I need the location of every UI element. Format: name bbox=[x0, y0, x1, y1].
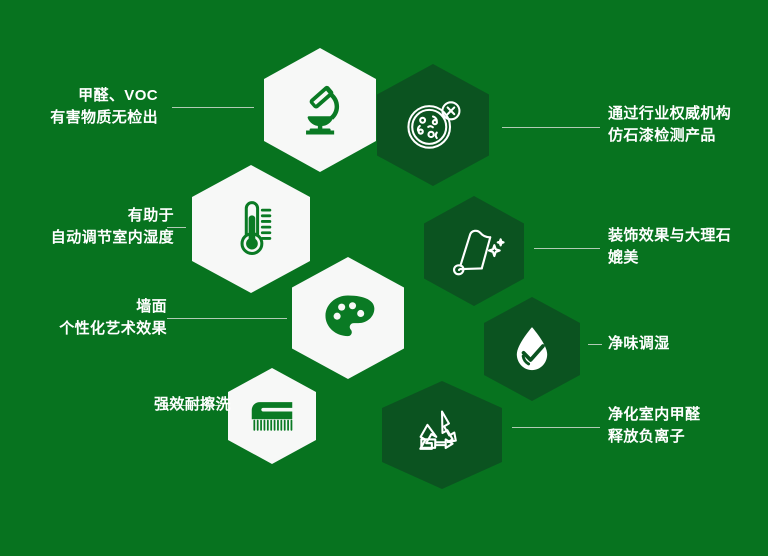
feature-label-line: 甲醛、VOC bbox=[50, 85, 158, 107]
feature-label-line: 个性化艺术效果 bbox=[59, 318, 167, 340]
hex-tile-palette bbox=[292, 257, 404, 379]
feature-label-line: 通过行业权威机构 bbox=[608, 103, 731, 125]
feature-label-line: 净味调湿 bbox=[608, 333, 670, 355]
feature-label-line: 仿石漆检测产品 bbox=[608, 125, 731, 147]
feature-label-humidity-regulation: 有助于 自动调节室内湿度 bbox=[51, 205, 174, 249]
hex-tile-brush bbox=[228, 368, 316, 464]
microscope-icon bbox=[289, 79, 351, 141]
water-drop-check-icon bbox=[505, 322, 559, 376]
connector-line-marble-like-decoration bbox=[534, 248, 600, 249]
thermometer-icon bbox=[220, 196, 282, 262]
hex-tile-thermometer bbox=[192, 165, 310, 293]
feature-label-personalized-wall-art: 墙面 个性化艺术效果 bbox=[59, 296, 167, 340]
infographic-canvas: 甲醛、VOC 有害物质无检出 通过行业权威机构 仿石漆检测产品 有助于 自动调节… bbox=[0, 0, 768, 556]
feature-label-line: 有害物质无检出 bbox=[50, 107, 158, 129]
feature-label-no-formaldehyde-voc: 甲醛、VOC 有害物质无检出 bbox=[50, 85, 158, 129]
feature-label-marble-like-decoration: 装饰效果与大理石 媲美 bbox=[608, 225, 731, 269]
feature-label-purify-formaldehyde-anions: 净化室内甲醛 释放负离子 bbox=[608, 404, 700, 448]
feature-label-line: 媲美 bbox=[608, 247, 731, 269]
palette-icon bbox=[319, 289, 377, 347]
hex-tile-fabric bbox=[424, 196, 524, 306]
recycle-icon bbox=[408, 404, 476, 466]
connector-line-personalized-wall-art bbox=[167, 318, 287, 319]
feature-label-odor-removal-humidity: 净味调湿 bbox=[608, 333, 670, 355]
feature-label-line: 净化室内甲醛 bbox=[608, 404, 700, 426]
feature-label-line: 释放负离子 bbox=[608, 426, 700, 448]
feature-label-line: 强效耐擦洗 bbox=[154, 394, 231, 416]
feature-label-line: 装饰效果与大理石 bbox=[608, 225, 731, 247]
connector-line-no-formaldehyde-voc bbox=[172, 107, 254, 108]
antibacterial-petri-dish-icon bbox=[399, 91, 467, 159]
hex-tile-microscope bbox=[264, 48, 376, 172]
scrub-brush-icon bbox=[245, 393, 299, 439]
feature-label-line: 有助于 bbox=[51, 205, 174, 227]
feature-label-line: 自动调节室内湿度 bbox=[51, 227, 174, 249]
feature-label-scrub-resistant: 强效耐擦洗 bbox=[154, 394, 231, 416]
feature-label-line: 墙面 bbox=[59, 296, 167, 318]
feature-label-authority-tested: 通过行业权威机构 仿石漆检测产品 bbox=[608, 103, 731, 147]
connector-line-purify-formaldehyde-anions bbox=[512, 427, 600, 428]
hex-tile-antibacterial bbox=[377, 64, 489, 186]
hex-tile-water-drop bbox=[484, 297, 580, 401]
fabric-sparkle-icon bbox=[443, 220, 505, 282]
hex-tile-recycle bbox=[382, 381, 502, 489]
connector-line-authority-tested bbox=[502, 127, 600, 128]
connector-line-odor-removal-humidity bbox=[588, 344, 602, 345]
